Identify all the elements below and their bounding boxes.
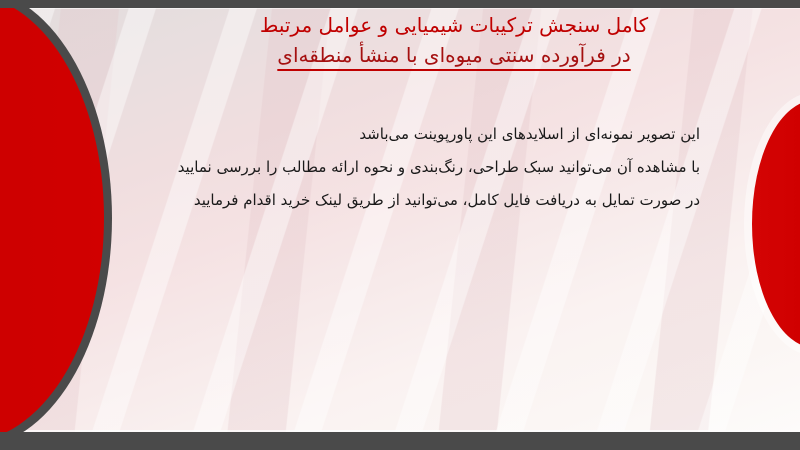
slide-title: کامل سنجش ترکیبات شیمیایی و عوامل مرتبط … — [134, 10, 774, 70]
title-line-2: در فرآورده سنتی میوه‌ای با منشأ منطقه‌ای — [134, 40, 774, 70]
slide-body: این تصویر نمونه‌ای از اسلایدهای این پاور… — [140, 118, 700, 217]
bottom-frame-band — [0, 432, 800, 450]
title-line-1: کامل سنجش ترکیبات شیمیایی و عوامل مرتبط — [134, 10, 774, 40]
top-frame-band — [0, 0, 800, 8]
slide-content-panel — [0, 8, 800, 432]
body-line-1: این تصویر نمونه‌ای از اسلایدهای این پاور… — [140, 118, 700, 151]
body-line-2: با مشاهده آن می‌توانید سبک طراحی، رنگ‌بن… — [140, 151, 700, 184]
body-line-3: در صورت تمایل به دریافت فایل کامل، می‌تو… — [140, 184, 700, 217]
presentation-slide: کامل سنجش ترکیبات شیمیایی و عوامل مرتبط … — [0, 0, 800, 450]
panel-top-hairline — [0, 8, 800, 9]
